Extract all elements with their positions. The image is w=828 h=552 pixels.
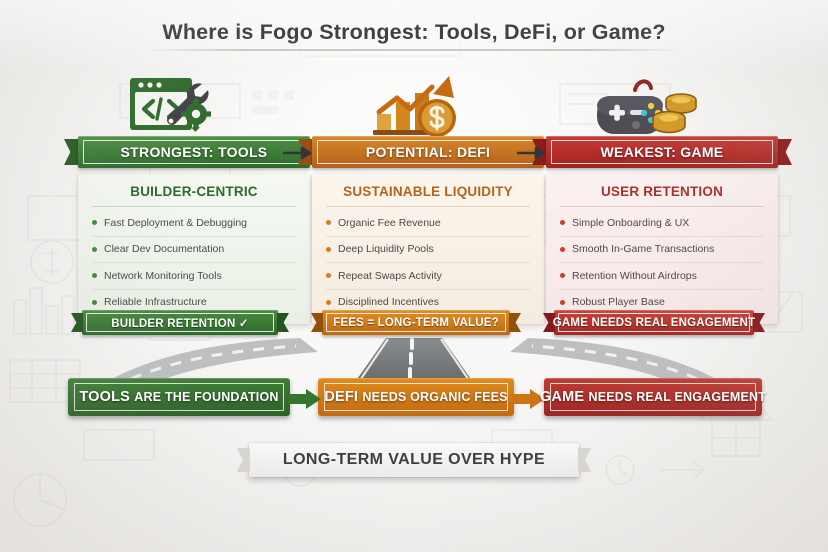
bullet-dot-icon (560, 220, 565, 225)
ribbon-tail-right (509, 313, 521, 332)
bullet-text: Robust Player Base (572, 296, 665, 308)
bullet-dot-icon (92, 300, 97, 305)
column-game: WEAKEST: GAME USER RETENTION Simple Onbo… (546, 136, 778, 324)
footer-banner-label: GAME NEEDS REAL ENGAGEMENT (553, 317, 755, 329)
conclusion-banner-game: GAME NEEDS REAL ENGAGEMENT (544, 378, 762, 416)
final-banner-label: LONG-TERM VALUE OVER HYPE (283, 451, 545, 469)
conclusion-label-tools: TOOLS ARE THE FOUNDATION (79, 389, 278, 405)
bullet-text: Smooth In-Game Transactions (572, 243, 714, 255)
final-banner: LONG-TERM VALUE OVER HYPE (249, 443, 579, 477)
conclusion-rest: ARE THE FOUNDATION (134, 390, 278, 404)
conclusion-lead: TOOLS (79, 389, 130, 405)
ribbon-tools: STRONGEST: TOOLS (78, 136, 310, 168)
conclusion-label-defi: DEFI NEEDS ORGANIC FEES (324, 389, 507, 405)
arrow-right-icon-conclusion-1 (288, 388, 322, 410)
footer-banner-defi: FEES = LONG-TERM VALUE? (322, 310, 510, 335)
bullet-dot-icon (560, 247, 565, 252)
card-title-defi: SUSTAINABLE LIQUIDITY (326, 184, 530, 207)
bullet-dot-icon (326, 300, 331, 305)
bullet-text: Network Monitoring Tools (104, 270, 222, 282)
bullet-text: Fast Deployment & Debugging (104, 217, 247, 229)
bullet-dot-icon (326, 220, 331, 225)
conclusion-rest: NEEDS REAL ENGAGEMENT (588, 390, 766, 404)
footer-banner-label: FEES = LONG-TERM VALUE? (333, 317, 499, 329)
ribbon-tail-left (311, 313, 323, 332)
title-underline-rule (144, 49, 684, 51)
conclusion-banner-defi: DEFI NEEDS ORGANIC FEES (318, 378, 514, 416)
ribbon-game: WEAKEST: GAME (546, 136, 778, 168)
ribbon-tail-right (277, 313, 289, 332)
bullet-dot-icon (92, 273, 97, 278)
bullet-text: Repeat Swaps Activity (338, 270, 442, 282)
card-tools: BUILDER-CENTRIC Fast Deployment & Debugg… (78, 174, 310, 324)
column-tools: STRONGEST: TOOLS BUILDER-CENTRIC Fast De… (78, 136, 310, 324)
bullet-dot-icon (326, 273, 331, 278)
card-game: USER RETENTION Simple Onboarding & UX Sm… (546, 174, 778, 324)
list-item: Retention Without Airdrops (560, 263, 764, 290)
list-item: Repeat Swaps Activity (326, 263, 530, 290)
bullet-text: Simple Onboarding & UX (572, 217, 689, 229)
bullet-text: Disciplined Incentives (338, 296, 439, 308)
bullet-dot-icon (326, 247, 331, 252)
ribbon-body: WEAKEST: GAME (546, 136, 778, 168)
arrow-right-icon-defi-to-game (517, 146, 547, 160)
ribbon-tail-left (71, 313, 83, 332)
bullet-text: Organic Fee Revenue (338, 217, 441, 229)
growth-chart-dollar-coin-icon (354, 62, 474, 144)
conclusion-row: TOOLS ARE THE FOUNDATION DEFI NEEDS ORGA… (0, 378, 828, 420)
bullet-dot-icon (92, 220, 97, 225)
icon-row (0, 62, 828, 144)
ribbon-label: STRONGEST: TOOLS (121, 144, 268, 160)
card-defi: SUSTAINABLE LIQUIDITY Organic Fee Revenu… (312, 174, 544, 324)
card-title-tools: BUILDER-CENTRIC (92, 184, 296, 207)
bullet-text: Clear Dev Documentation (104, 243, 224, 255)
ribbon-tail-left (237, 448, 250, 472)
list-item: Smooth In-Game Transactions (560, 237, 764, 264)
bullet-list-defi: Organic Fee Revenue Deep Liquidity Pools… (326, 210, 530, 315)
conclusion-banner-tools: TOOLS ARE THE FOUNDATION (68, 378, 290, 416)
conclusion-rest: NEEDS ORGANIC FEES (362, 390, 507, 404)
bullet-dot-icon (92, 247, 97, 252)
list-item: Network Monitoring Tools (92, 263, 296, 290)
ribbon-tail-right (776, 139, 792, 165)
ribbon-tail-right (578, 448, 591, 472)
list-item: Clear Dev Documentation (92, 237, 296, 264)
bullet-text: Reliable Infrastructure (104, 296, 207, 308)
bullet-dot-icon (560, 300, 565, 305)
ribbon-body: STRONGEST: TOOLS (78, 136, 310, 168)
list-item: Fast Deployment & Debugging (92, 210, 296, 237)
bullet-list-game: Simple Onboarding & UX Smooth In-Game Tr… (560, 210, 764, 315)
conclusion-lead: GAME (540, 389, 584, 405)
ribbon-body: POTENTIAL: DEFI (312, 136, 544, 168)
list-item: Deep Liquidity Pools (326, 237, 530, 264)
footer-banner-label: BUILDER RETENTION ✓ (111, 316, 248, 330)
footer-banner-game: GAME NEEDS REAL ENGAGEMENT (554, 310, 754, 335)
infographic-canvas: Where is Fogo Strongest: Tools, DeFi, or… (0, 0, 828, 552)
bullet-dot-icon (560, 273, 565, 278)
list-item: Simple Onboarding & UX (560, 210, 764, 237)
ribbon-label: POTENTIAL: DEFI (366, 144, 490, 160)
ribbon-defi: POTENTIAL: DEFI (312, 136, 544, 168)
ribbon-label: WEAKEST: GAME (601, 144, 724, 160)
column-footer-row: BUILDER RETENTION ✓ FEES = LONG-TERM VAL… (0, 310, 828, 338)
list-item: Organic Fee Revenue (326, 210, 530, 237)
gamepad-coins-icon (584, 62, 704, 144)
column-defi: POTENTIAL: DEFI SUSTAINABLE LIQUIDITY Or… (312, 136, 544, 324)
bullet-text: Retention Without Airdrops (572, 270, 697, 282)
bullet-list-tools: Fast Deployment & Debugging Clear Dev Do… (92, 210, 296, 315)
bullet-text: Deep Liquidity Pools (338, 243, 434, 255)
conclusion-lead: DEFI (324, 389, 358, 405)
card-title-game: USER RETENTION (560, 184, 764, 207)
footer-banner-tools: BUILDER RETENTION ✓ (82, 310, 278, 335)
arrow-right-icon-tools-to-defi (283, 146, 313, 160)
code-window-wrench-gear-icon (108, 62, 228, 144)
conclusion-label-game: GAME NEEDS REAL ENGAGEMENT (540, 389, 766, 405)
